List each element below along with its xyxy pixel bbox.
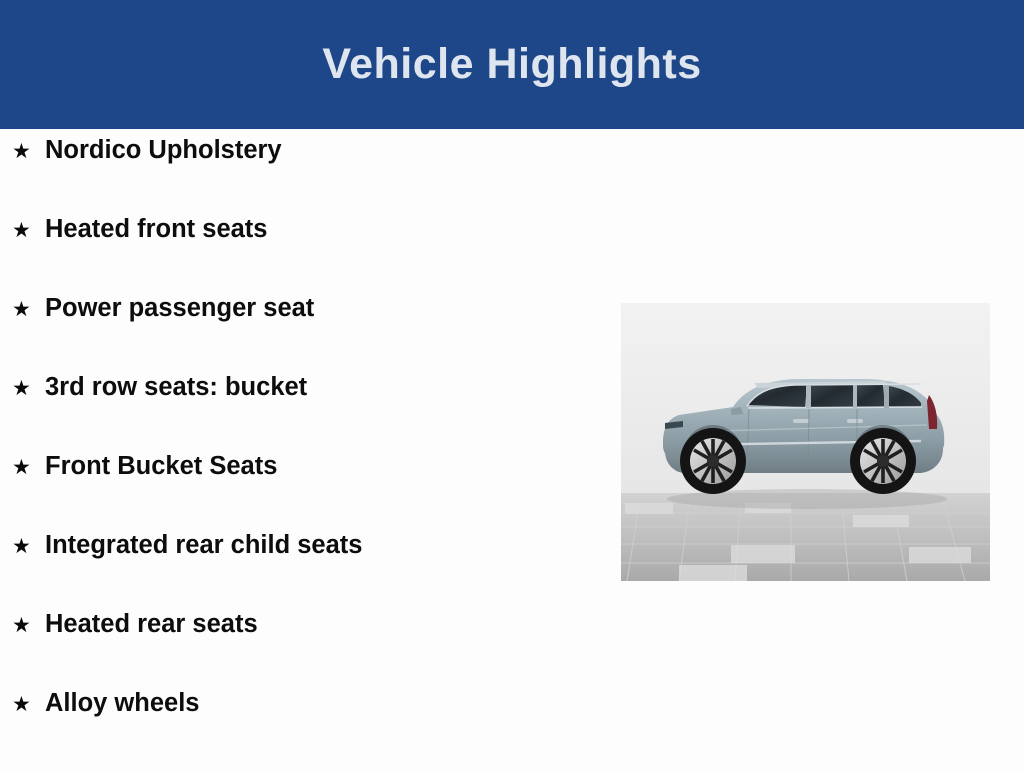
list-item: ★ Integrated rear child seats (0, 533, 600, 612)
list-item: ★ Power passenger seat (0, 296, 600, 375)
header-bar: Vehicle Highlights (0, 0, 1024, 129)
list-item: ★ 3rd row seats: bucket (0, 375, 600, 454)
list-item: ★ Alloy wheels (0, 691, 600, 770)
star-icon: ★ (12, 615, 45, 636)
star-icon: ★ (12, 536, 45, 557)
highlights-list: ★ Nordico Upholstery ★ Heated front seat… (0, 138, 600, 770)
list-item: ★ Heated rear seats (0, 612, 600, 691)
page-title: Vehicle Highlights (302, 43, 721, 86)
vehicle-photo-illustration (621, 303, 990, 581)
star-icon: ★ (12, 378, 45, 399)
highlight-label: Alloy wheels (45, 691, 199, 717)
vehicle-photo (621, 303, 990, 581)
star-icon: ★ (12, 694, 45, 715)
list-item: ★ Front Bucket Seats (0, 454, 600, 533)
star-icon: ★ (12, 299, 45, 320)
highlight-label: Power passenger seat (45, 296, 314, 322)
highlight-label: Integrated rear child seats (45, 533, 362, 559)
highlight-label: Heated front seats (45, 217, 267, 243)
list-item: ★ Heated front seats (0, 217, 600, 296)
highlight-label: 3rd row seats: bucket (45, 375, 307, 401)
star-icon: ★ (12, 220, 45, 241)
highlight-label: Heated rear seats (45, 612, 258, 638)
star-icon: ★ (12, 141, 45, 162)
star-icon: ★ (12, 457, 45, 478)
highlight-label: Nordico Upholstery (45, 138, 282, 164)
list-item: ★ Nordico Upholstery (0, 138, 600, 217)
highlight-label: Front Bucket Seats (45, 454, 277, 480)
